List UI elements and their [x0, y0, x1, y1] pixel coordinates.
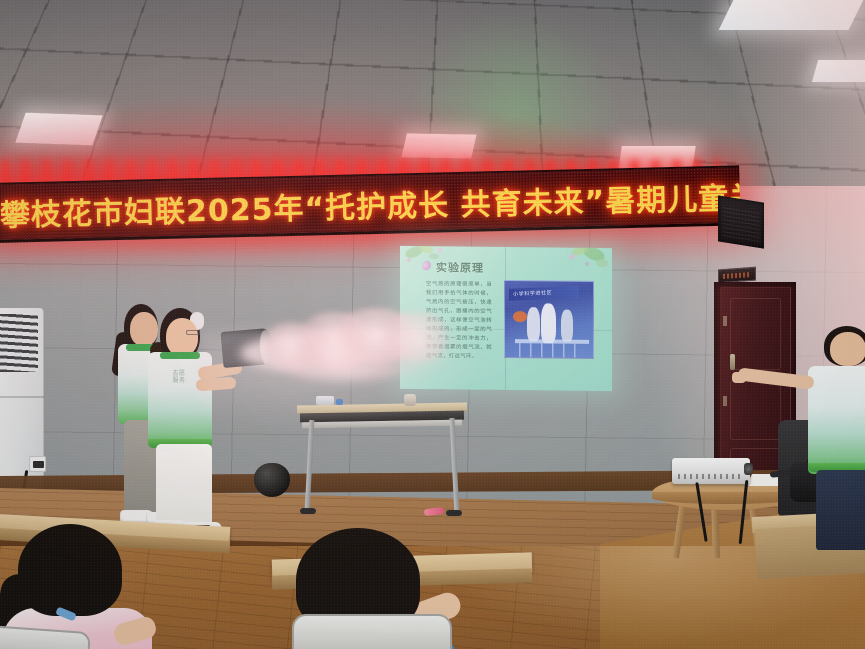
projector	[672, 458, 750, 484]
demo-table-foot	[446, 510, 462, 516]
audience-chair-back	[292, 614, 452, 649]
projector-lens	[744, 463, 753, 475]
wall-speaker	[718, 195, 764, 248]
trousers	[816, 470, 865, 550]
pointing-hand	[732, 372, 746, 383]
air-conditioner-seam	[0, 396, 44, 398]
demo-table-foot	[300, 508, 316, 514]
head	[166, 318, 198, 356]
volunteer-pointing	[800, 330, 865, 550]
wall-power-outlet	[29, 456, 46, 472]
door-hinge	[723, 396, 727, 406]
head	[830, 332, 865, 366]
trousers	[156, 444, 212, 526]
door-panel	[730, 380, 781, 440]
smoke-puff	[300, 330, 370, 370]
black-bucket	[254, 463, 290, 497]
led-banner-text: 攀枝花市妇联2025年“托护成长 共育未来”暑期儿童关爱活动	[0, 170, 740, 234]
glasses	[186, 330, 200, 335]
photograph-scene: 攀枝花市妇联2025年“托护成长 共育未来”暑期儿童关爱活动 实验原理 空气炮的…	[0, 0, 865, 649]
door-sign	[718, 267, 756, 284]
door-hinge	[723, 316, 727, 326]
vest-logo: 志愿服务	[162, 370, 196, 384]
vest-collar	[160, 352, 200, 359]
door-panel	[730, 298, 781, 370]
air-conditioner-vent	[0, 314, 38, 372]
volunteer-vest	[808, 366, 865, 474]
door-handle[interactable]	[730, 354, 735, 370]
hair	[18, 524, 122, 616]
